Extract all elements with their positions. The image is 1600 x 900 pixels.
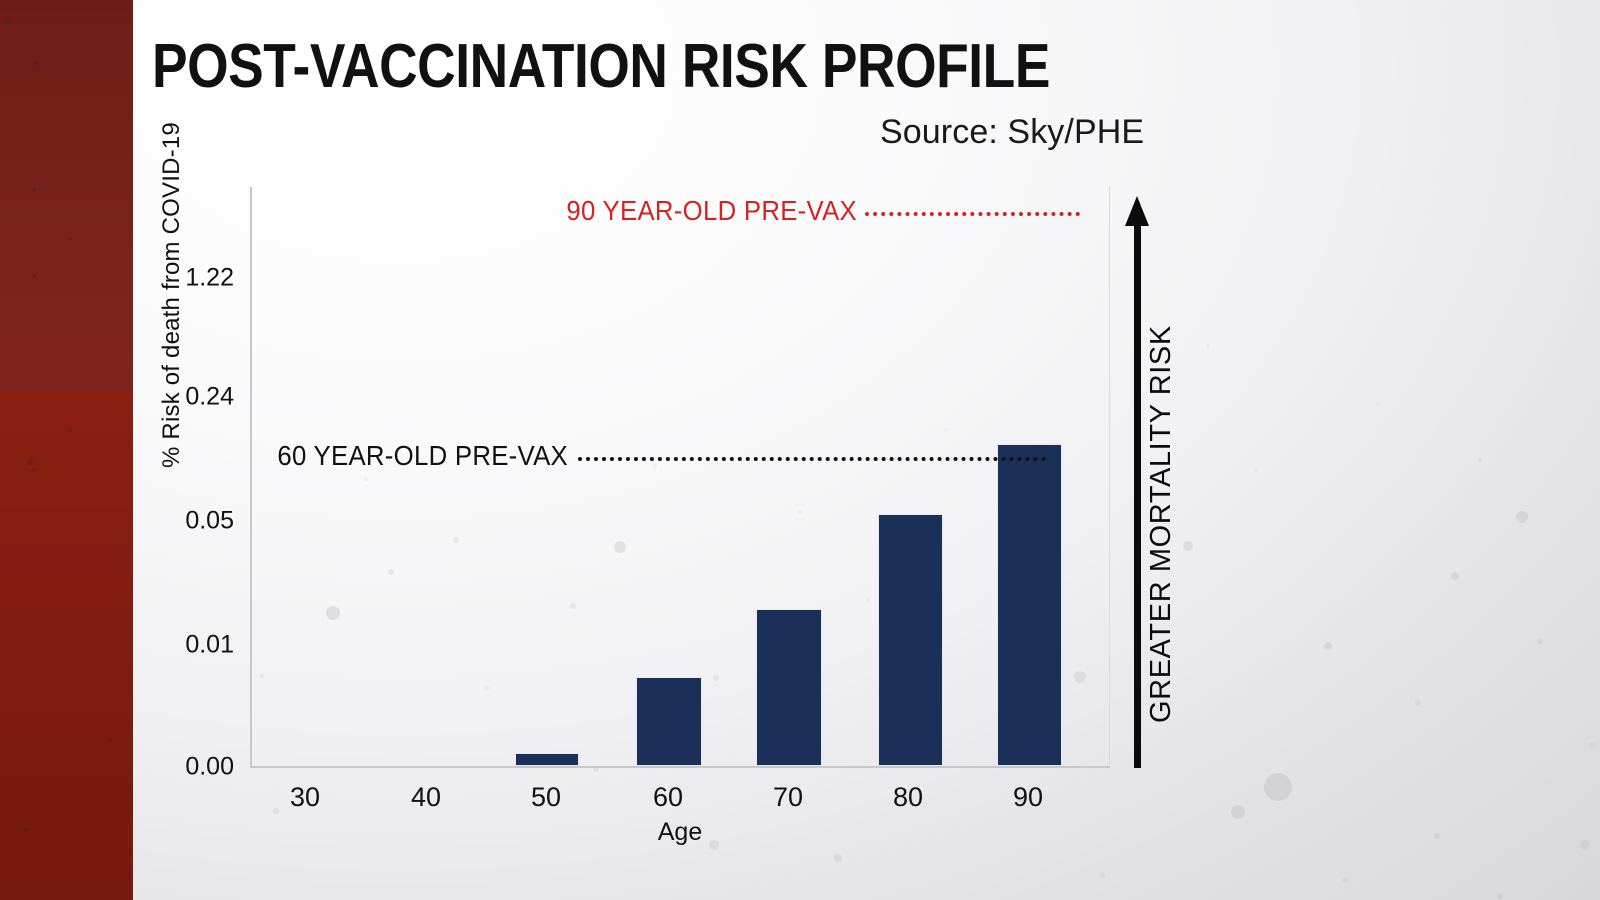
source-credit: Source: Sky/PHE bbox=[880, 113, 1144, 152]
bar-age-70[interactable] bbox=[756, 609, 822, 766]
x-tick-label: 90 bbox=[1013, 782, 1043, 813]
mortality-risk-label: GREATER MORTALITY RISK bbox=[1145, 325, 1178, 723]
y-axis-title: % Risk of death from COVID-19 bbox=[158, 122, 186, 468]
y-tick-label: 1.22 bbox=[185, 264, 234, 293]
bar-age-50[interactable] bbox=[515, 753, 579, 766]
y-tick-label: 0.05 bbox=[185, 507, 234, 536]
x-tick-label: 50 bbox=[531, 782, 561, 813]
y-tick-label: 0.24 bbox=[185, 383, 234, 412]
plot-area: 1.22 0.24 0.05 0.01 0.00 30 40 50 60 70 … bbox=[250, 187, 1110, 768]
annotation-label-90-pre-vax: 90 YEAR-OLD PRE-VAX bbox=[305, 195, 857, 227]
x-tick-label: 70 bbox=[773, 782, 803, 813]
x-tick-label: 30 bbox=[290, 782, 320, 813]
x-tick-label: 80 bbox=[893, 782, 923, 813]
bar-age-80[interactable] bbox=[878, 514, 943, 766]
x-tick-label: 60 bbox=[653, 782, 683, 813]
bar-age-60[interactable] bbox=[636, 677, 702, 766]
y-tick-label: 0.00 bbox=[185, 753, 234, 782]
slide-root: POST-VACCINATION RISK PROFILE Source: Sk… bbox=[0, 0, 1600, 900]
bar-age-90[interactable] bbox=[997, 444, 1062, 766]
x-tick-label: 40 bbox=[411, 782, 441, 813]
page-title: POST-VACCINATION RISK PROFILE bbox=[152, 36, 1050, 98]
y-tick-label: 0.01 bbox=[185, 631, 234, 660]
x-axis-line bbox=[250, 766, 1110, 768]
plot-right-border bbox=[1109, 187, 1110, 768]
annotation-label-60-pre-vax: 60 YEAR-OLD PRE-VAX bbox=[16, 440, 568, 472]
y-axis-line bbox=[250, 187, 252, 768]
x-axis-title: Age bbox=[658, 818, 702, 847]
arrow-shaft bbox=[1134, 222, 1141, 768]
annotation-line-60-pre-vax bbox=[578, 457, 1046, 461]
annotation-line-90-pre-vax bbox=[865, 212, 1080, 216]
